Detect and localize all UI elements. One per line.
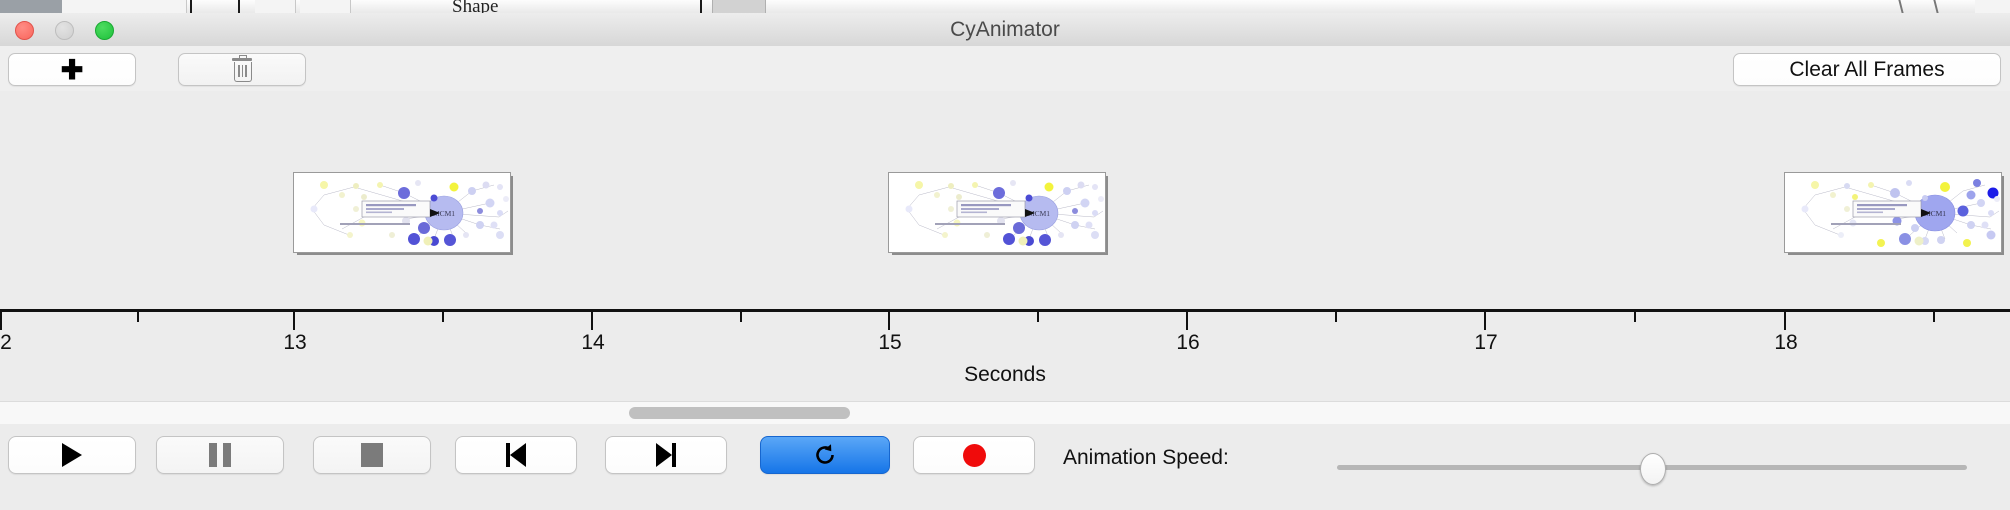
axis-tick-label: 2: [0, 331, 12, 355]
play-icon: [62, 443, 82, 467]
window-title: CyAnimator: [0, 13, 2010, 46]
timeline-scrollbar[interactable]: [0, 401, 2010, 425]
next-frame-button[interactable]: [605, 436, 727, 474]
timeline-frame[interactable]: MCM1: [1784, 172, 2000, 251]
animation-speed-slider[interactable]: [1337, 465, 1967, 470]
frame-thumbnail: MCM1: [293, 172, 511, 253]
axis-tick-minor: [1335, 312, 1337, 322]
add-frame-button[interactable]: ✚: [8, 53, 136, 86]
background-window-strip: Shape: [0, 0, 2010, 13]
axis-tick-major: [1484, 312, 1486, 330]
pause-button[interactable]: [156, 436, 284, 474]
skip-forward-icon: [656, 443, 676, 467]
network-thumbnail-graphic: MCM1: [1785, 173, 2001, 252]
record-button[interactable]: [913, 436, 1035, 474]
axis-tick-label: 16: [1176, 331, 1199, 355]
axis-tick-minor: [1933, 312, 1935, 322]
clear-all-frames-button[interactable]: Clear All Frames: [1733, 53, 2001, 86]
title-bar: CyAnimator: [0, 13, 2010, 47]
frame-thumbnail: MCM1: [1784, 172, 2002, 253]
pause-icon: [209, 443, 231, 467]
clear-all-frames-label: Clear All Frames: [1789, 58, 1944, 82]
axis-tick-label: 13: [283, 331, 306, 355]
axis-tick-major: [0, 312, 2, 330]
skip-back-icon: [506, 443, 526, 467]
stop-icon: [361, 443, 383, 467]
timeline-axis: [0, 309, 2010, 312]
delete-frame-button[interactable]: [178, 53, 306, 86]
network-thumbnail-graphic: MCM1: [294, 173, 510, 252]
axis-tick-minor: [740, 312, 742, 322]
network-thumbnail-graphic: MCM1: [889, 173, 1105, 252]
play-button[interactable]: [8, 436, 136, 474]
frame-thumbnail: MCM1: [888, 172, 1106, 253]
axis-tick-minor: [442, 312, 444, 322]
loop-icon: [812, 442, 838, 468]
timeline-frame[interactable]: MCM1: [293, 172, 509, 251]
cyanimator-window: Shape CyAnimator ✚ Clear All Frames: [0, 0, 2010, 510]
axis-tick-label: 17: [1474, 331, 1497, 355]
axis-tick-major: [591, 312, 593, 330]
animation-speed-label: Animation Speed:: [1063, 446, 1229, 470]
axis-tick-major: [888, 312, 890, 330]
axis-tick-minor: [137, 312, 139, 322]
animation-speed-slider-knob[interactable]: [1640, 453, 1666, 485]
axis-tick-major: [1186, 312, 1188, 330]
axis-tick-minor: [1037, 312, 1039, 322]
toolbar: ✚ Clear All Frames: [0, 46, 2010, 92]
axis-tick-minor: [1634, 312, 1636, 322]
timeline-frame[interactable]: MCM1: [888, 172, 1104, 251]
axis-tick-label: 18: [1774, 331, 1797, 355]
axis-tick-label: 14: [581, 331, 604, 355]
axis-tick-major: [293, 312, 295, 330]
loop-button[interactable]: [760, 436, 890, 474]
previous-frame-button[interactable]: [455, 436, 577, 474]
trash-icon: [232, 58, 252, 81]
record-icon: [963, 444, 986, 467]
scrollbar-thumb[interactable]: [629, 407, 850, 419]
playback-controls: Animation Speed:: [0, 424, 2010, 510]
axis-tick-label: 15: [878, 331, 901, 355]
axis-tick-major: [1784, 312, 1786, 330]
axis-title: Seconds: [0, 363, 2010, 387]
background-window-label: Shape: [452, 0, 498, 13]
timeline-panel[interactable]: MCM1: [0, 91, 2010, 401]
stop-button[interactable]: [313, 436, 431, 474]
